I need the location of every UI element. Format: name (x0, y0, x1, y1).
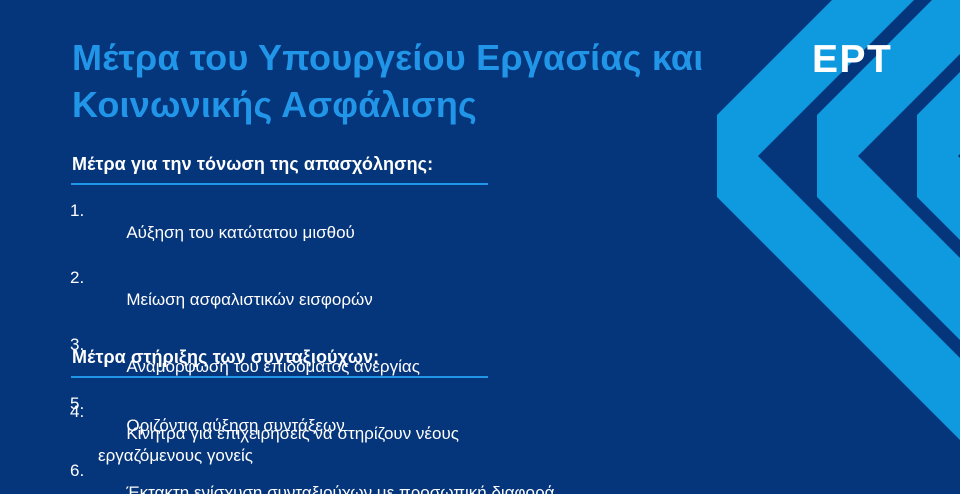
list-item: 1.Αύξηση του κατώτατου μισθού (70, 200, 670, 266)
list-item: 3.Αναμόρφωση του επιδόματος ανεργίας (70, 334, 670, 400)
list-item-label: Οριζόντια αύξηση συντάξεων (126, 416, 344, 435)
list-item-number: 1. (70, 200, 92, 222)
news-slide-graphic: ΕΡΤ Μέτρα του Υπουργείου Εργασίας και Κο… (0, 0, 960, 494)
section-heading-employment: Μέτρα για την τόνωση της απασχόλησης: (72, 155, 433, 173)
section-divider-1 (71, 183, 488, 185)
list-item-label: Μείωση ασφαλιστικών εισφορών (126, 290, 372, 309)
list-item: 6.Έκτακτη ενίσχυση συνταξιούχων με προσω… (70, 460, 720, 494)
list-item: 5.Οριζόντια αύξηση συντάξεων (70, 393, 720, 459)
section-divider-2 (71, 376, 488, 378)
page-title: Μέτρα του Υπουργείου Εργασίας και Κοινων… (72, 34, 762, 128)
list-item-number: 5. (70, 393, 92, 415)
section-heading-pensioners: Μέτρα στήριξης των συνταξιούχων: (72, 348, 379, 366)
ert-logo: ΕΡΤ (812, 40, 892, 79)
measures-list-pensioners: 5.Οριζόντια αύξηση συντάξεων 6.Έκτακτη ε… (70, 393, 720, 494)
list-item-label: Έκτακτη ενίσχυση συνταξιούχων με προσωπι… (126, 483, 554, 494)
list-item-label: Αύξηση του κατώτατου μισθού (126, 223, 354, 242)
list-item-number: 2. (70, 267, 92, 289)
page-title-line-2: Κοινωνικής Ασφάλισης (72, 81, 762, 128)
list-item-number: 6. (70, 460, 92, 482)
list-item: 2.Μείωση ασφαλιστικών εισφορών (70, 267, 670, 333)
page-title-line-1: Μέτρα του Υπουργείου Εργασίας και (72, 34, 762, 81)
